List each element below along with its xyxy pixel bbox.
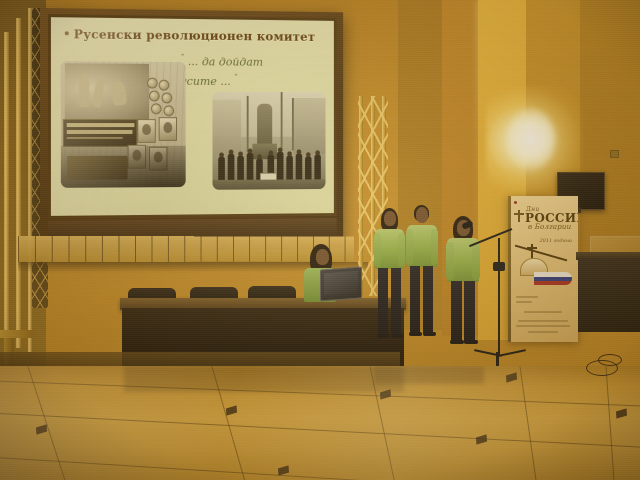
- banner-flag: [534, 272, 572, 285]
- photo-person: [286, 155, 293, 181]
- relief-figure: [92, 77, 106, 108]
- student-arm: [431, 229, 438, 265]
- photo-person-head: [315, 150, 320, 155]
- flag-stripe-red: [534, 281, 572, 285]
- banner-dot-icon: [514, 201, 517, 204]
- banner-text-line: [524, 311, 562, 313]
- student-leg: [423, 266, 433, 334]
- orthodox-cross-emblem: [514, 210, 524, 222]
- student-presenter-left: [374, 208, 406, 354]
- photo-person-head: [268, 150, 273, 155]
- student-arm: [406, 229, 413, 265]
- student-head: [416, 207, 428, 223]
- photo-person-head: [248, 149, 253, 154]
- operator-head: [316, 249, 329, 265]
- photo-person: [247, 152, 254, 181]
- banner-artwork: [512, 242, 574, 286]
- student-arm: [472, 242, 480, 280]
- exhibit-relief: [65, 63, 149, 119]
- caption-line: [67, 137, 123, 139]
- truss-base-left: [0, 330, 34, 338]
- caption-line: [67, 123, 135, 127]
- student-shoe: [450, 340, 464, 344]
- banner-date-text: 2011 година: [539, 238, 572, 244]
- coin: [147, 78, 158, 89]
- photo-person: [314, 154, 321, 181]
- student-leg: [391, 268, 401, 336]
- student-arm: [374, 233, 381, 267]
- exhibit-coin-display: [145, 78, 178, 121]
- photo-person-head: [287, 151, 292, 156]
- student-leg: [464, 281, 475, 343]
- banner-text-line: [516, 325, 570, 327]
- banner-text-line: [516, 296, 538, 298]
- student-shoe: [464, 340, 478, 344]
- truss-post: [16, 18, 21, 348]
- photo-person: [277, 151, 284, 181]
- truss-post: [4, 32, 9, 348]
- slide-quote: ” ... да дойдат русите ... ”: [181, 52, 323, 91]
- student-presenter-microphone: [446, 216, 480, 358]
- banner-edge: [508, 196, 511, 342]
- photo-person-head: [297, 149, 302, 154]
- museum-exhibit-photo: [61, 61, 186, 188]
- exhibit-portrait: [137, 119, 155, 143]
- student-shoe: [409, 332, 422, 336]
- photo-person-head: [257, 154, 262, 159]
- photo-person: [228, 153, 235, 181]
- laptop-screen: [324, 271, 358, 295]
- photo-person-head: [238, 151, 243, 156]
- floor-gloss: [0, 366, 640, 480]
- wall-switch[interactable]: [610, 150, 619, 158]
- photo-person-head: [219, 153, 224, 158]
- relief-figure: [79, 73, 90, 107]
- tile-floor: [0, 366, 640, 480]
- coin: [149, 91, 160, 102]
- projection-screen: Русенски революционен комитет ” ... да д…: [40, 8, 343, 253]
- coin: [162, 93, 173, 104]
- slide-quote-line1: ... да дойдат: [188, 54, 263, 68]
- student-arm: [398, 233, 405, 267]
- student-head: [384, 211, 396, 226]
- student-shoe: [423, 332, 436, 336]
- photo-person: [237, 155, 244, 181]
- coin: [164, 105, 175, 116]
- photo-person-head: [306, 152, 311, 157]
- reception-desk: [578, 258, 640, 332]
- student-shoe: [391, 334, 404, 338]
- slide-content: Русенски революционен комитет ” ... да д…: [51, 17, 334, 216]
- russia-days-banner: Дни РОССИИ в Болгарии 2011 година: [508, 196, 578, 342]
- bullet-icon: [65, 31, 69, 35]
- student-leg: [378, 268, 388, 336]
- exhibit-display-case: [67, 156, 128, 180]
- exhibit-caption-banner: [63, 119, 138, 147]
- photo-person: [296, 153, 303, 181]
- photograph-scene: Русенски революционен комитет ” ... да д…: [0, 0, 640, 480]
- banner-sub-text: в Болгарии: [528, 223, 571, 231]
- student-leg: [410, 266, 420, 334]
- photo-person-head: [229, 150, 234, 155]
- quote-mark-icon-end: ”: [234, 73, 237, 81]
- quote-mark-icon: ”: [181, 53, 184, 61]
- microphone-stand-pole: [498, 238, 500, 356]
- photo-person: [305, 156, 312, 181]
- caption-line: [67, 130, 133, 134]
- slide-heading-text: Русенски революционен комитет: [74, 26, 316, 43]
- banner-text-line: [518, 320, 568, 322]
- student-presenter-middle: [406, 205, 438, 353]
- presentation-laptop: [320, 267, 362, 302]
- floor-cable: [598, 354, 622, 366]
- microphone-clutch[interactable]: [493, 262, 505, 271]
- coin: [151, 103, 162, 114]
- relief-figure: [110, 81, 127, 106]
- student-leg: [451, 281, 462, 343]
- student-shoe: [377, 334, 390, 338]
- banner-text-line: [516, 301, 532, 303]
- photo-ground: [212, 179, 325, 189]
- monument-group-photo: [212, 92, 325, 190]
- coin: [159, 80, 170, 91]
- banner-text-line: [528, 331, 558, 333]
- photo-person-head: [278, 148, 283, 153]
- exhibit-portrait: [159, 117, 177, 141]
- photo-person: [218, 156, 225, 181]
- slide-heading: Русенски революционен комитет: [65, 26, 327, 44]
- sconce-bulb-glow: [507, 108, 555, 170]
- student-arm: [446, 242, 454, 280]
